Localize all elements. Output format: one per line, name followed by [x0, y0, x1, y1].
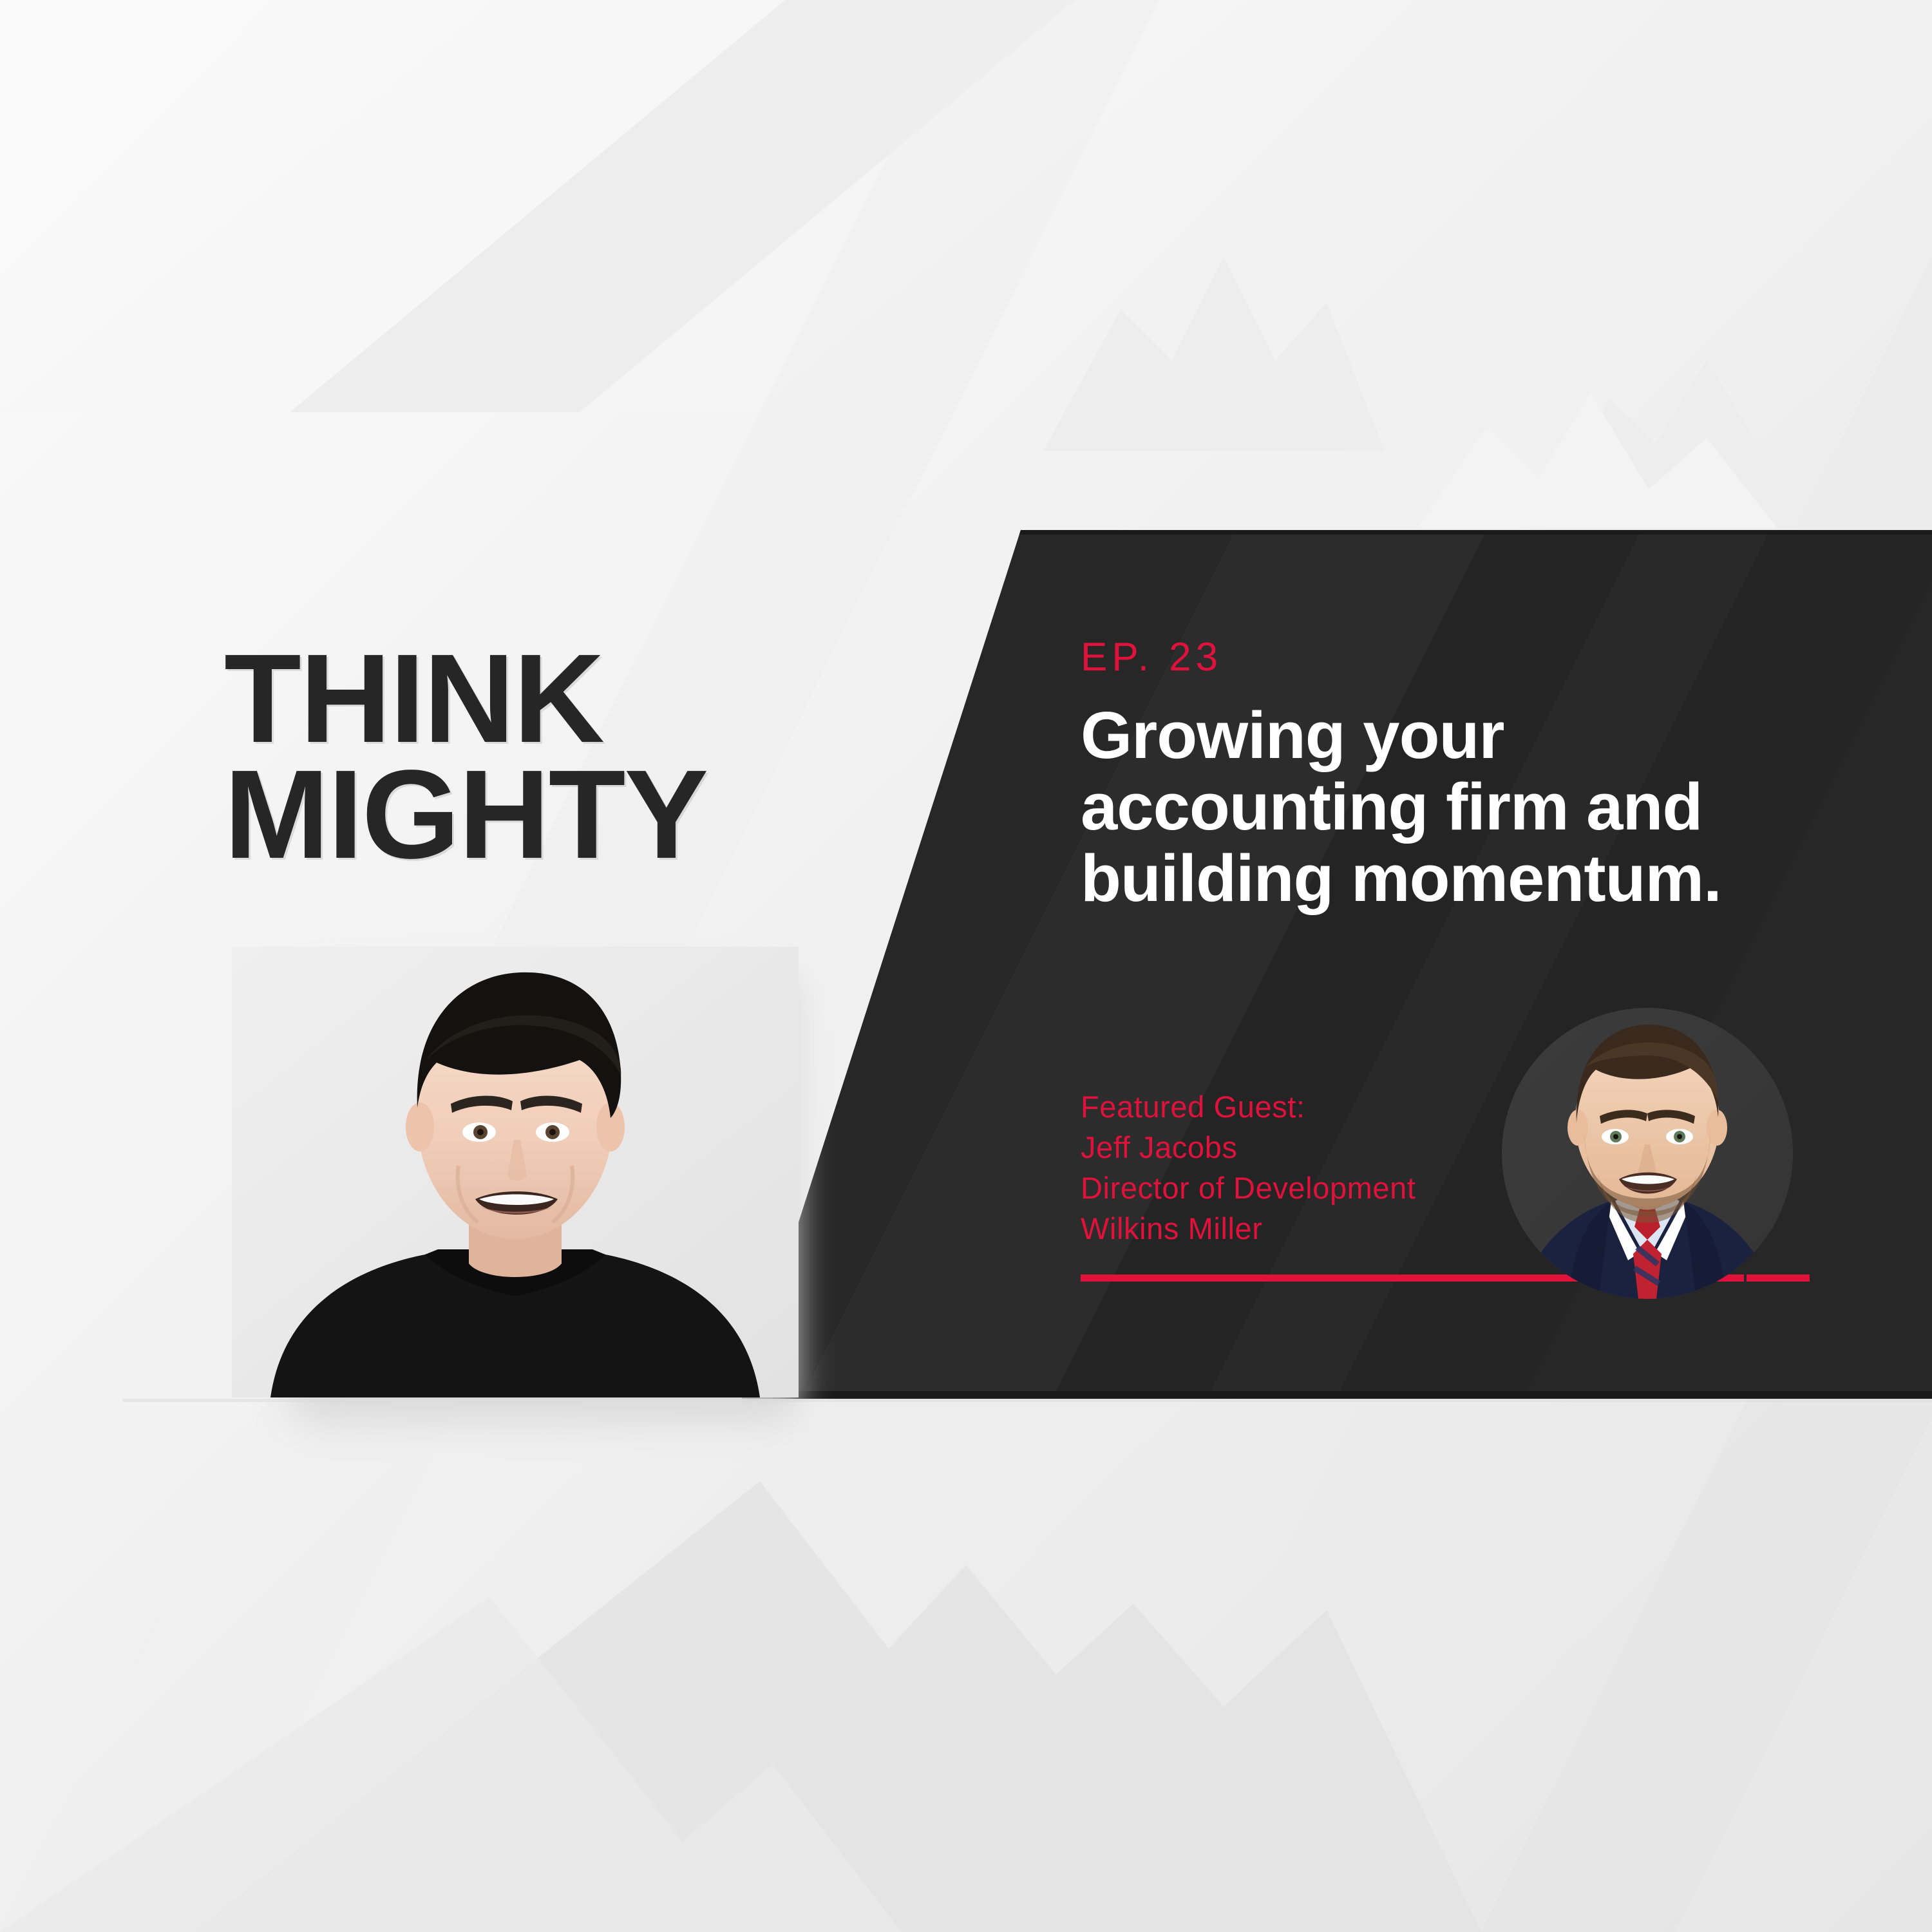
- brand-logo: THINK MIGHTY: [224, 641, 707, 873]
- featured-guest-company: Wilkins Miller: [1081, 1209, 1416, 1249]
- episode-title: Growing your accounting firm and buildin…: [1081, 699, 1738, 914]
- episode-number-label: EP. 23: [1081, 638, 1918, 677]
- guest-photo-illustration: [1502, 1008, 1793, 1299]
- featured-guest-name: Jeff Jacobs: [1081, 1128, 1416, 1168]
- host-portrait: [232, 947, 799, 1397]
- brand-logo-line1: THINK: [224, 641, 707, 757]
- episode-header: EP. 23 Growing your accounting firm and …: [1081, 638, 1918, 914]
- featured-guest-block: Featured Guest: Jeff Jacobs Director of …: [1081, 1087, 1416, 1249]
- guest-avatar: [1502, 1008, 1793, 1299]
- accent-divider-right: [1747, 1274, 1810, 1282]
- brand-logo-line2: MIGHTY: [224, 757, 707, 873]
- host-photo-illustration: [232, 947, 799, 1397]
- featured-guest-label: Featured Guest:: [1081, 1087, 1416, 1128]
- featured-guest-role: Director of Development: [1081, 1168, 1416, 1209]
